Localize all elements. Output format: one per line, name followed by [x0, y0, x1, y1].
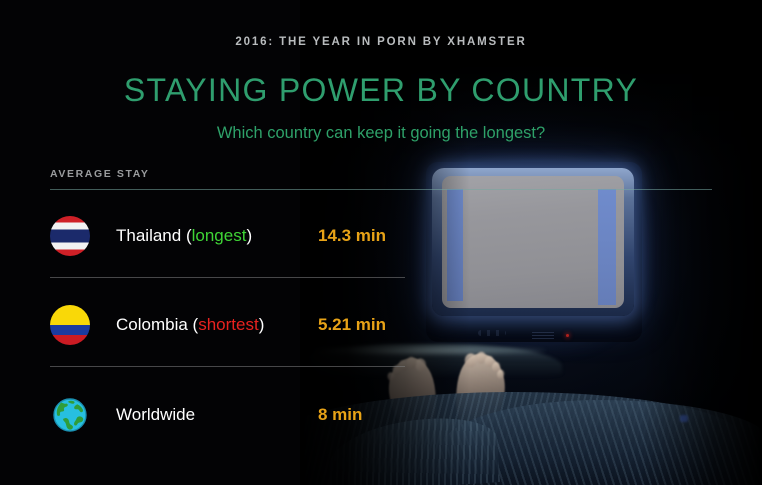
row-value: 8 min	[318, 405, 362, 425]
row-tag-longest: longest	[192, 226, 247, 245]
row-country-name: Thailand	[116, 226, 181, 245]
colombia-flag-icon	[50, 305, 90, 345]
row-tag-shortest: shortest	[198, 315, 258, 334]
row-country-name: Colombia	[116, 315, 188, 334]
kicker-text: 2016: THE YEAR IN PORN BY XHAMSTER	[0, 36, 762, 48]
page-title: STAYING POWER BY COUNTRY	[0, 72, 762, 109]
row-paren-open: (	[188, 315, 198, 334]
content-layer: 2016: THE YEAR IN PORN BY XHAMSTER STAYI…	[0, 0, 762, 485]
table-row: Thailand (longest) 14.3 min	[50, 213, 450, 259]
row-paren-close: )	[259, 315, 265, 334]
row-divider	[50, 366, 405, 367]
row-paren-open: (	[181, 226, 191, 245]
row-value: 5.21 min	[318, 315, 386, 335]
section-divider-top	[50, 189, 712, 190]
table-row: Worldwide 8 min	[50, 392, 450, 438]
row-divider	[50, 277, 405, 278]
infographic-canvas: 2016: THE YEAR IN PORN BY XHAMSTER STAYI…	[0, 0, 762, 485]
thailand-flag-icon	[50, 216, 90, 256]
globe-icon	[50, 395, 90, 435]
section-label-average-stay: AVERAGE STAY	[50, 168, 150, 180]
table-row: Colombia (shortest) 5.21 min	[50, 302, 450, 348]
row-value: 14.3 min	[318, 226, 386, 246]
row-label: Thailand (longest)	[116, 226, 252, 246]
row-country-name: Worldwide	[116, 405, 195, 424]
row-paren-close: )	[246, 226, 252, 245]
row-label: Colombia (shortest)	[116, 315, 264, 335]
page-subtitle: Which country can keep it going the long…	[0, 124, 762, 143]
row-label: Worldwide	[116, 405, 195, 425]
